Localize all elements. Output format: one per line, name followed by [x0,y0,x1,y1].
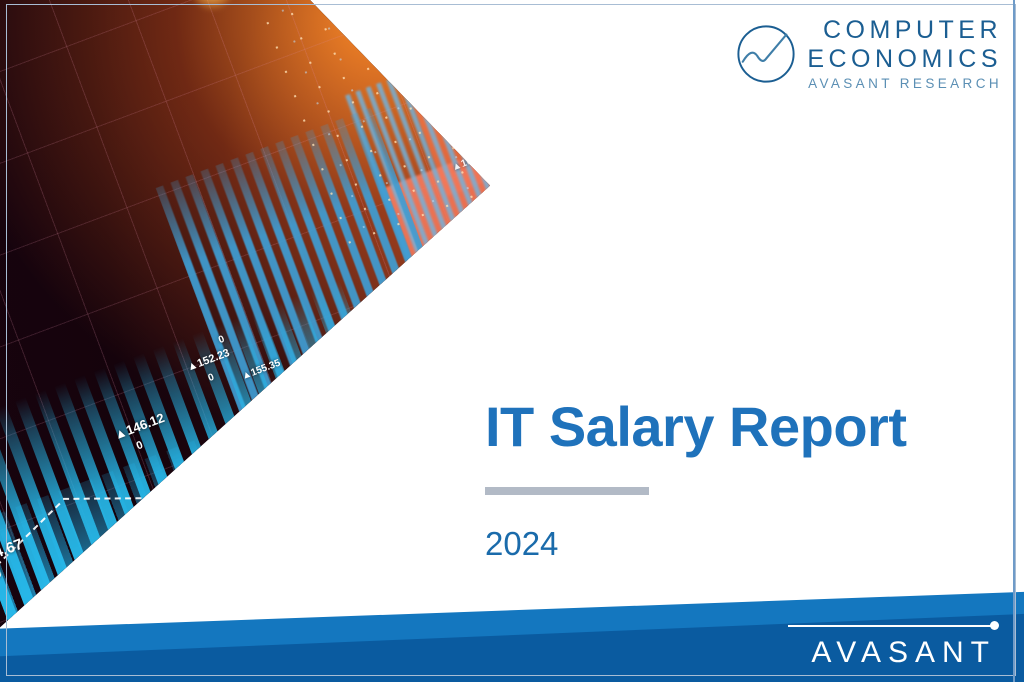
title-block: IT Salary Report 2024 [485,398,906,563]
hero-trendline-5 [451,217,500,290]
avasant-rule [788,625,996,627]
hero-bloom-2 [497,61,500,105]
report-year: 2024 [485,525,906,563]
hero-image-canvas: ▲124.67 0 ▲146.12 0 ▲152.23 0 ▲155.35 0 … [0,0,500,640]
slide-frame-right-edge [1013,0,1015,682]
page-title: IT Salary Report [485,398,906,457]
brand-logo-wordmark: COMPUTER ECONOMICS AVASANT RESEARCH [807,18,1002,91]
hero-image: ▲124.67 0 ▲146.12 0 ▲152.23 0 ▲155.35 0 … [0,0,500,640]
title-divider [485,487,649,495]
avasant-dot-icon [990,621,999,630]
circle-trendline-icon [735,23,797,85]
brand-logo-line-computer: COMPUTER [823,18,1002,43]
avasant-logo: AVASANT [778,625,998,670]
slide-root: ▲124.67 0 ▲146.12 0 ▲152.23 0 ▲155.35 0 … [0,0,1024,682]
brand-logo-line-avasant-research: AVASANT RESEARCH [808,77,1002,91]
brand-logo: COMPUTER ECONOMICS AVASANT RESEARCH [735,18,1002,91]
avasant-wordmark: AVASANT [778,636,998,670]
brand-logo-line-economics: ECONOMICS [807,47,1002,72]
